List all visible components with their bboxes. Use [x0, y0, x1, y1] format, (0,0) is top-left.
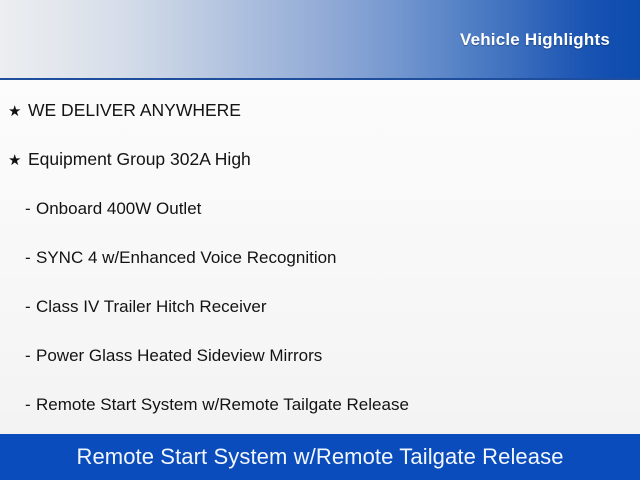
highlight-label: Power Glass Heated Sideview Mirrors [36, 346, 322, 365]
footer-caption: Remote Start System w/Remote Tailgate Re… [76, 444, 563, 470]
highlight-row: ★WE DELIVER ANYWHERE [0, 86, 640, 135]
page-title: Vehicle Highlights [460, 30, 610, 50]
footer-banner: Remote Start System w/Remote Tailgate Re… [0, 434, 640, 480]
highlights-list: ★WE DELIVER ANYWHERE★Equipment Group 302… [0, 86, 640, 429]
highlight-row: ★Equipment Group 302A High [0, 135, 640, 184]
highlight-label: Class IV Trailer Hitch Receiver [36, 297, 267, 316]
highlight-row: -Remote Start System w/Remote Tailgate R… [0, 380, 640, 429]
highlight-label: SYNC 4 w/Enhanced Voice Recognition [36, 248, 337, 267]
dash-bullet-icon: - [25, 233, 36, 282]
dash-bullet-icon: - [25, 282, 36, 331]
highlight-row: -Power Glass Heated Sideview Mirrors [0, 331, 640, 380]
highlight-row: -Class IV Trailer Hitch Receiver [0, 282, 640, 331]
highlight-label: Equipment Group 302A High [28, 149, 251, 169]
star-bullet-icon: ★ [8, 136, 28, 185]
header-band: Vehicle Highlights [0, 0, 640, 80]
vehicle-highlights-slide: Vehicle Highlights ★WE DELIVER ANYWHERE★… [0, 0, 640, 480]
dash-bullet-icon: - [25, 184, 36, 233]
star-bullet-icon: ★ [8, 87, 28, 136]
dash-bullet-icon: - [25, 380, 36, 429]
highlight-label: WE DELIVER ANYWHERE [28, 100, 241, 120]
highlight-row: -Onboard 400W Outlet [0, 184, 640, 233]
highlight-label: Remote Start System w/Remote Tailgate Re… [36, 395, 409, 414]
highlight-row: -SYNC 4 w/Enhanced Voice Recognition [0, 233, 640, 282]
highlight-label: Onboard 400W Outlet [36, 199, 201, 218]
dash-bullet-icon: - [25, 331, 36, 380]
